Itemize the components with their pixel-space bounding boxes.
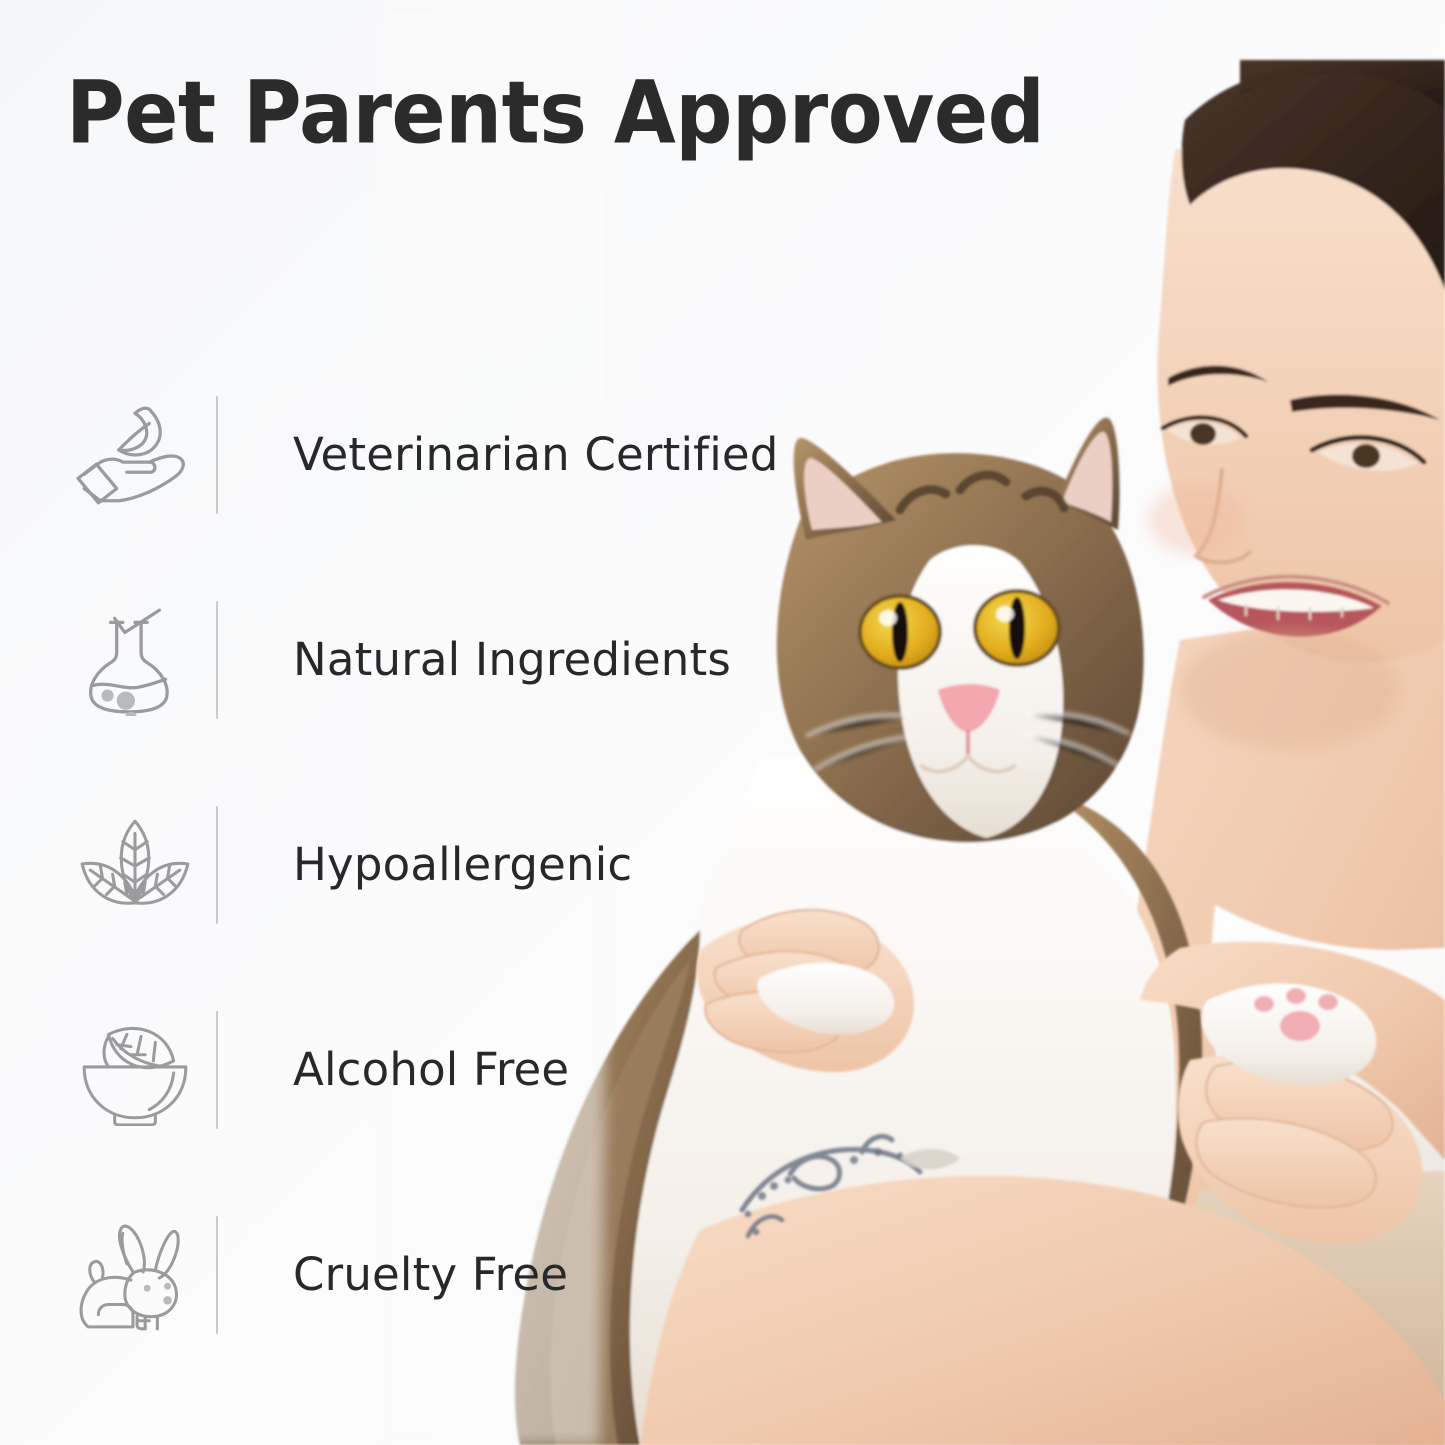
feature-label: Veterinarian Certified bbox=[293, 428, 779, 481]
feature-label: Hypoallergenic bbox=[293, 838, 632, 891]
feature-row: Natural Ingredients bbox=[60, 557, 760, 762]
feature-row: Alcohol Free bbox=[60, 967, 760, 1172]
rabbit-icon bbox=[60, 1216, 210, 1334]
feature-row: Hypoallergenic bbox=[60, 762, 760, 967]
feature-divider bbox=[216, 1216, 218, 1334]
three-leaves-icon bbox=[60, 806, 210, 924]
feature-row: Cruelty Free bbox=[60, 1172, 760, 1377]
hand-holding-leaf-icon bbox=[60, 396, 210, 514]
feature-label: Natural Ingredients bbox=[293, 633, 731, 686]
bowl-with-leaf-icon bbox=[60, 1011, 210, 1129]
flask-checkmark-icon bbox=[60, 601, 210, 719]
page-title: Pet Parents Approved bbox=[66, 70, 1044, 156]
feature-divider bbox=[216, 601, 218, 719]
feature-divider bbox=[216, 1011, 218, 1129]
feature-divider bbox=[216, 806, 218, 924]
promo-graphic: Pet Parents Approved Veterinarian Certif… bbox=[0, 0, 1445, 1445]
feature-list: Veterinarian Certified Natural Ingredien… bbox=[60, 352, 760, 1377]
feature-row: Veterinarian Certified bbox=[60, 352, 760, 557]
feature-label: Alcohol Free bbox=[293, 1043, 569, 1096]
feature-label: Cruelty Free bbox=[293, 1248, 568, 1301]
feature-divider bbox=[216, 396, 218, 514]
